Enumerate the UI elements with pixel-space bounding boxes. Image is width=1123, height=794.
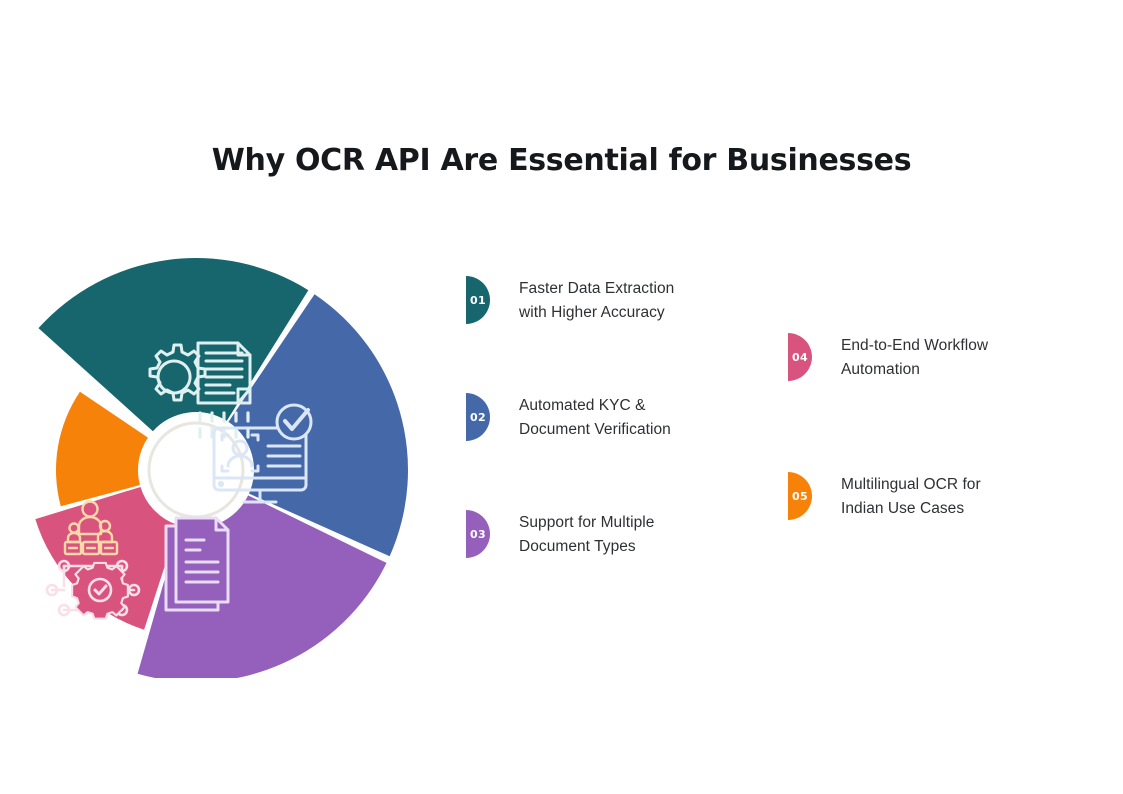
badge-03: 03 — [466, 510, 490, 558]
legend-line: Indian Use Cases — [841, 497, 981, 521]
legend-line: Document Types — [519, 535, 654, 559]
legend-line: Support for Multiple — [519, 511, 654, 535]
page-title: Why OCR API Are Essential for Businesses — [0, 143, 1123, 178]
legend-line: Automation — [841, 358, 988, 382]
badge-05: 05 — [788, 472, 812, 520]
badge-number-03: 03 — [470, 528, 486, 541]
legend-line: Faster Data Extraction — [519, 277, 674, 301]
legend-item-02[interactable]: 02 Automated KYC & Document Verification — [466, 393, 766, 442]
infographic-canvas: Why OCR API Are Essential for Businesses — [0, 0, 1123, 794]
legend-line: Automated KYC & — [519, 394, 671, 418]
stacked-documents-icon — [166, 518, 228, 610]
legend-item-03[interactable]: 03 Support for Multiple Document Types — [466, 510, 766, 559]
legend-line: with Higher Accuracy — [519, 301, 674, 325]
legend-text-02: Automated KYC & Document Verification — [519, 394, 671, 442]
badge-number-04: 04 — [792, 351, 808, 364]
legend-text-01: Faster Data Extraction with Higher Accur… — [519, 277, 674, 325]
legend-line: End-to-End Workflow — [841, 334, 988, 358]
legend-text-05: Multilingual OCR for Indian Use Cases — [841, 473, 981, 521]
badge-01: 01 — [466, 276, 490, 324]
donut-wheel — [0, 248, 420, 678]
legend-text-04: End-to-End Workflow Automation — [841, 334, 988, 382]
legend-column-right: 04 End-to-End Workflow Automation 05 Mul… — [788, 333, 1088, 611]
legend-line: Document Verification — [519, 418, 671, 442]
legend-line: Multilingual OCR for — [841, 473, 981, 497]
badge-number-05: 05 — [792, 490, 808, 503]
badge-number-02: 02 — [470, 411, 486, 424]
badge-number-01: 01 — [470, 294, 486, 307]
legend-item-01[interactable]: 01 Faster Data Extraction with Higher Ac… — [466, 276, 766, 325]
badge-02: 02 — [466, 393, 490, 441]
legend-column-left: 01 Faster Data Extraction with Higher Ac… — [466, 276, 766, 627]
legend-item-05[interactable]: 05 Multilingual OCR for Indian Use Cases — [788, 472, 1088, 521]
legend-item-04[interactable]: 04 End-to-End Workflow Automation — [788, 333, 1088, 382]
badge-04: 04 — [788, 333, 812, 381]
legend-text-03: Support for Multiple Document Types — [519, 511, 654, 559]
